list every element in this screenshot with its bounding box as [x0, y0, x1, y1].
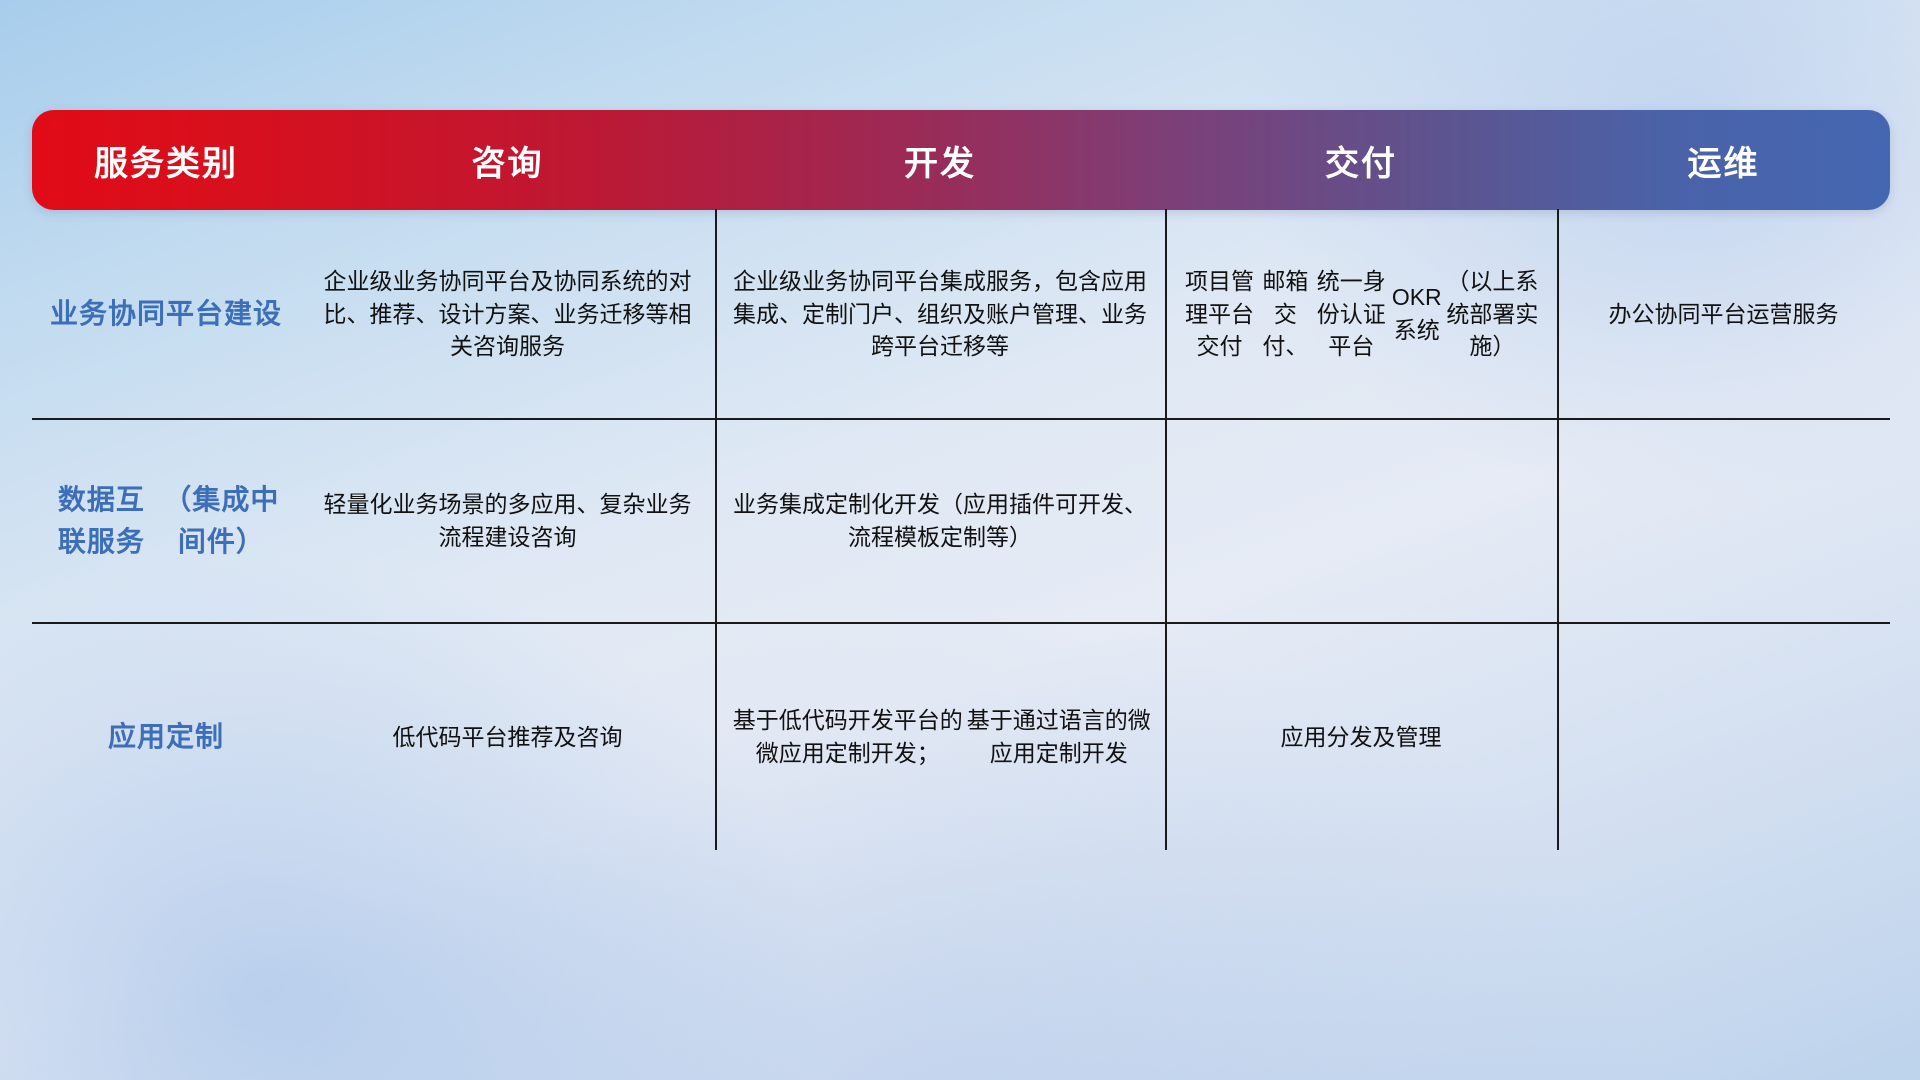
- cell-consulting: 低代码平台推荐及咨询: [300, 624, 715, 850]
- slide-canvas: 服务类别 咨询 开发 交付 运维 业务协同平台建设 企业级业务协同平台及协同系统…: [0, 0, 1920, 1080]
- table-row: 应用定制 低代码平台推荐及咨询 基于低代码开发平台的微应用定制开发；基于通过语言…: [32, 622, 1890, 850]
- cell-development: 基于低代码开发平台的微应用定制开发；基于通过语言的微应用定制开发: [715, 624, 1165, 850]
- cell-delivery: 项目管理平台交付邮箱交付、统一身份认证平台OKR系统（以上系统部署实施）: [1165, 210, 1557, 418]
- cell-consulting: 企业级业务协同平台及协同系统的对比、推荐、设计方案、业务迁移等相关咨询服务: [300, 210, 715, 418]
- header-development: 开发: [715, 110, 1165, 210]
- cell-development: 业务集成定制化开发（应用插件可开发、流程模板定制等）: [715, 420, 1165, 622]
- service-matrix-table: 服务类别 咨询 开发 交付 运维 业务协同平台建设 企业级业务协同平台及协同系统…: [32, 110, 1890, 850]
- cell-development: 企业级业务协同平台集成服务，包含应用集成、定制门户、组织及账户管理、业务跨平台迁…: [715, 210, 1165, 418]
- header-consulting: 咨询: [300, 110, 715, 210]
- cell-delivery: 应用分发及管理: [1165, 624, 1557, 850]
- cell-delivery: [1165, 420, 1557, 622]
- cell-category: 业务协同平台建设: [32, 210, 300, 418]
- cell-operations: 办公协同平台运营服务: [1557, 210, 1890, 418]
- cell-operations: [1557, 624, 1890, 850]
- table-row: 数据互联服务（集成中间件） 轻量化业务场景的多应用、复杂业务流程建设咨询 业务集…: [32, 418, 1890, 622]
- cell-category: 应用定制: [32, 624, 300, 850]
- cell-category: 数据互联服务（集成中间件）: [32, 420, 300, 622]
- cell-consulting: 轻量化业务场景的多应用、复杂业务流程建设咨询: [300, 420, 715, 622]
- header-delivery: 交付: [1165, 110, 1557, 210]
- table-header-row: 服务类别 咨询 开发 交付 运维: [32, 110, 1890, 210]
- cell-operations: [1557, 420, 1890, 622]
- table-body: 业务协同平台建设 企业级业务协同平台及协同系统的对比、推荐、设计方案、业务迁移等…: [32, 210, 1890, 850]
- header-operations: 运维: [1557, 110, 1890, 210]
- header-service-category: 服务类别: [32, 110, 300, 210]
- table-row: 业务协同平台建设 企业级业务协同平台及协同系统的对比、推荐、设计方案、业务迁移等…: [32, 210, 1890, 418]
